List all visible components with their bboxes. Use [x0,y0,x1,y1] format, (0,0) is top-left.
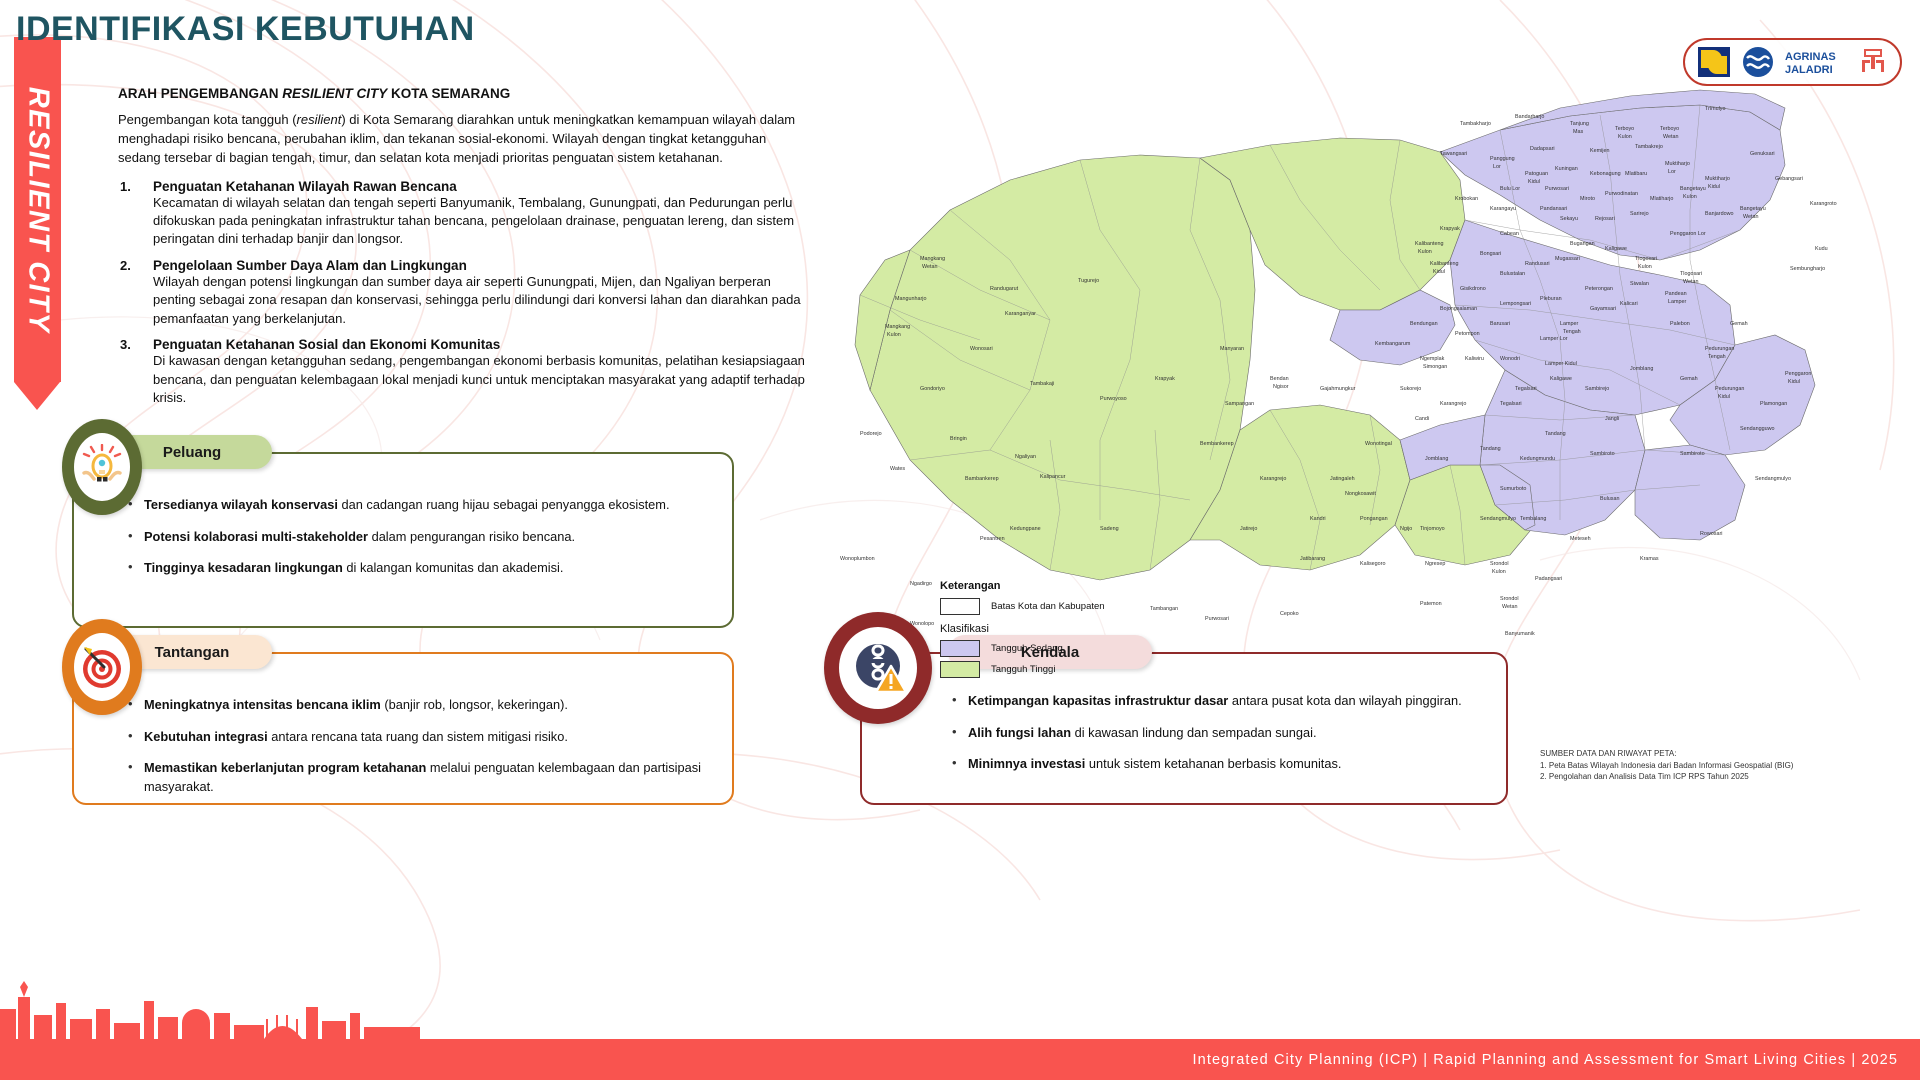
panel-bullet: Meningkatnya intensitas bencana iklim (b… [128,696,716,715]
svg-text:Gayamsari: Gayamsari [1590,306,1616,312]
logo-bar: AGRINAS JALADRI [1683,38,1902,86]
svg-text:Sambirejo: Sambirejo [1585,386,1609,392]
class-label: Tangguh Tinggi [991,664,1055,675]
svg-text:Jomblang: Jomblang [1630,366,1653,372]
svg-text:Ngresep: Ngresep [1425,561,1445,567]
legend-class-list: Tangguh SedangTangguh Tinggi [940,640,1130,678]
svg-text:Lamper Lor: Lamper Lor [1540,336,1568,342]
bullet-rest: dalam pengurangan risiko bencana. [368,529,575,544]
svg-text:Kedungpane: Kedungpane [1010,526,1041,532]
svg-text:Kulon: Kulon [1492,569,1506,575]
svg-text:Purwodinatan: Purwodinatan [1605,191,1638,197]
idea-lightbulb-icon [80,444,124,490]
svg-text:Kidul: Kidul [1788,379,1800,385]
map-source-note: SUMBER DATA DAN RIWAYAT PETA: 1. Peta Ba… [1540,748,1793,783]
svg-text:Tanjung: Tanjung [1570,121,1589,127]
map-svg[interactable]: .hi { fill:#d4eba4; stroke:#6a6a6a; stro… [800,60,1840,660]
svg-text:Patemon: Patemon [1420,601,1442,607]
semarang-resilience-map[interactable]: .hi { fill:#d4eba4; stroke:#6a6a6a; stro… [800,60,1840,660]
svg-text:Sendangmulyo: Sendangmulyo [1480,516,1516,522]
peluang-badge [62,419,142,515]
broken-chain-warning-icon [846,636,910,700]
svg-text:Dadapsari: Dadapsari [1530,146,1555,152]
svg-text:Karangroto: Karangroto [1810,201,1837,207]
agrinas-wave-icon [1742,46,1774,78]
agrinas-jaladri-text-icon: AGRINAS JALADRI [1785,47,1847,77]
svg-text:Kulon: Kulon [887,332,901,338]
svg-text:Sarirejo: Sarirejo [1630,211,1649,217]
svg-text:Sadeng: Sadeng [1100,526,1119,532]
svg-text:Gemah: Gemah [1680,376,1698,382]
bullet-strong: Meningkatnya intensitas bencana iklim [144,697,381,712]
svg-text:Ngisor: Ngisor [1273,384,1289,390]
svg-text:Pedurungan: Pedurungan [1715,386,1744,392]
svg-text:Tembalang: Tembalang [1520,516,1546,522]
svg-text:Petompon: Petompon [1455,331,1480,337]
svg-text:Plamongan: Plamongan [1760,401,1787,407]
panel-bullet: Alih fungsi lahan di kawasan lindung dan… [952,724,1490,743]
boundary-swatch [940,598,980,615]
svg-text:Bandarharjo: Bandarharjo [1515,114,1544,120]
svg-text:Lor: Lor [1668,169,1676,175]
svg-text:Penggaron Lor: Penggaron Lor [1670,231,1706,237]
class-swatch [940,640,980,657]
footer-text: Integrated City Planning (ICP) | Rapid P… [1193,1052,1920,1068]
svg-text:Kulon: Kulon [1683,194,1697,200]
svg-text:Rejosari: Rejosari [1595,216,1615,222]
svg-text:Lamper: Lamper [1560,321,1578,327]
svg-text:Candi: Candi [1415,416,1429,422]
narrative-block: ARAH PENGEMBANGAN RESILIENT CITY KOTA SE… [118,86,808,417]
svg-text:Kembangarum: Kembangarum [1375,341,1411,347]
boundary-label: Batas Kota dan Kabupaten [991,601,1105,612]
svg-text:Nongkosawit: Nongkosawit [1345,491,1376,497]
panel-peluang: Peluang Tersedianya wilayah konservasi d… [72,452,734,628]
resilient-city-ribbon: RESILIENT CITY [14,37,61,382]
svg-text:Sampangan: Sampangan [1225,401,1254,407]
svg-text:Kulon: Kulon [1618,134,1632,140]
svg-text:Bendungan: Bendungan [1410,321,1438,327]
svg-text:Bringin: Bringin [950,436,967,442]
svg-text:Jatibarang: Jatibarang [1300,556,1325,562]
svg-text:Mugassari: Mugassari [1555,256,1580,262]
panel-bullet: Minimnya investasi untuk sistem ketahana… [952,755,1490,774]
svg-text:Kalibanteng: Kalibanteng [1430,261,1458,267]
svg-text:Wetan: Wetan [1502,604,1517,610]
svg-text:Bugangan: Bugangan [1570,241,1595,247]
classification-title: Klasifikasi [940,623,1130,635]
svg-text:Kalicari: Kalicari [1620,301,1638,307]
svg-text:Jangli: Jangli [1605,416,1619,422]
svg-text:Jatingaleh: Jatingaleh [1330,476,1355,482]
svg-text:Simongan: Simongan [1423,364,1447,370]
panel-bullet: Tingginya kesadaran lingkungan di kalang… [128,559,716,578]
svg-text:Banyumanik: Banyumanik [1505,631,1535,637]
svg-text:Wonodri: Wonodri [1500,356,1520,362]
svg-text:Patoguan: Patoguan [1525,171,1548,177]
svg-text:Pesantren: Pesantren [980,536,1005,542]
svg-text:Lempongsari: Lempongsari [1500,301,1531,307]
svg-text:Manyaran: Manyaran [1220,346,1244,352]
svg-text:Kramas: Kramas [1640,556,1659,562]
svg-text:Ngemplak: Ngemplak [1420,356,1445,362]
svg-text:Gisikdrono: Gisikdrono [1460,286,1486,292]
svg-text:Tandang: Tandang [1545,431,1566,437]
svg-text:Karanganyar: Karanganyar [1005,311,1036,317]
bullet-strong: Ketimpangan kapasitas infrastruktur dasa… [968,693,1228,708]
svg-text:Bambankerep: Bambankerep [965,476,999,482]
ribbon-arrow-icon [14,382,60,410]
svg-text:Tegalsari: Tegalsari [1500,401,1522,407]
svg-text:Wonotingal: Wonotingal [1365,441,1392,447]
agrinas-jaladri-logo [1742,46,1774,78]
page-title: IDENTIFIKASI KEBUTUHAN [16,10,475,49]
icp-mark-logo [1858,47,1888,77]
legend-row-class: Tangguh Tinggi [940,661,1130,678]
svg-text:Purwosari: Purwosari [1205,616,1229,622]
bullet-rest: (banjir rob, longsor, kekeringan). [381,697,568,712]
svg-text:Kedungmundu: Kedungmundu [1520,456,1555,462]
svg-text:Kuningan: Kuningan [1555,166,1578,172]
svg-text:Wates: Wates [890,466,905,472]
narrative-point: 2.Pengelolaan Sumber Daya Alam dan Lingk… [118,258,808,328]
svg-text:Bembankerep: Bembankerep [1200,441,1234,447]
svg-text:Kalipancur: Kalipancur [1040,474,1066,480]
svg-text:Kidul: Kidul [1708,184,1720,190]
narrative-lead: Pengembangan kota tangguh (resilient) di… [118,111,808,168]
point-title: Penguatan Ketahanan Wilayah Rawan Bencan… [153,179,808,194]
svg-text:Wonosari: Wonosari [970,346,993,352]
svg-text:Mlatiharjo: Mlatiharjo [1650,196,1673,202]
svg-text:Sembungharjo: Sembungharjo [1790,266,1825,272]
kemendagri-logo-icon [1697,46,1731,78]
svg-text:AGRINAS: AGRINAS [1785,51,1836,63]
point-body: Wilayah dengan potensi lingkungan dan su… [153,273,808,328]
city-skyline-decoration [0,979,420,1039]
svg-text:Pandansari: Pandansari [1540,206,1567,212]
svg-text:Bangetayu: Bangetayu [1740,206,1766,212]
svg-text:Gebangsari: Gebangsari [1775,176,1803,182]
svg-text:Kebonagung: Kebonagung [1590,171,1621,177]
point-number: 3. [120,337,131,352]
svg-text:Randusari: Randusari [1525,261,1550,267]
tantangan-bullets: Meningkatnya intensitas bencana iklim (b… [128,696,716,809]
svg-text:Tinjomoyo: Tinjomoyo [1420,526,1445,532]
svg-text:Rowosari: Rowosari [1700,531,1722,537]
svg-text:Panggung: Panggung [1490,156,1515,162]
bullet-strong: Potensi kolaborasi multi-stakeholder [144,529,368,544]
svg-text:Mangkang: Mangkang [920,256,945,262]
svg-text:Tegalsari: Tegalsari [1515,386,1537,392]
bullet-rest: untuk sistem ketahanan berbasis komunita… [1085,756,1341,771]
svg-text:Sekayu: Sekayu [1560,216,1578,222]
point-title: Penguatan Ketahanan Sosial dan Ekonomi K… [153,337,808,352]
svg-text:Tambangan: Tambangan [1150,606,1178,612]
svg-text:Peterongan: Peterongan [1585,286,1613,292]
svg-text:JALADRI: JALADRI [1785,64,1833,76]
point-title: Pengelolaan Sumber Daya Alam dan Lingkun… [153,258,808,273]
svg-text:Wonoplumbon: Wonoplumbon [840,556,875,562]
peluang-bullets: Tersedianya wilayah konservasi dan cadan… [128,496,716,591]
svg-text:Tambakrejo: Tambakrejo [1635,144,1663,150]
svg-text:Srondol: Srondol [1500,596,1519,602]
svg-text:Cabean: Cabean [1500,231,1519,237]
svg-text:Kaliwiru: Kaliwiru [1465,356,1484,362]
svg-text:Mas: Mas [1573,129,1583,135]
point-body: Di kawasan dengan ketangguhan sedang, pe… [153,352,808,407]
svg-text:Srondol: Srondol [1490,561,1509,567]
class-swatch [940,661,980,678]
svg-text:Padangsari: Padangsari [1535,576,1562,582]
bullet-strong: Minimnya investasi [968,756,1085,771]
svg-text:Genuksari: Genuksari [1750,151,1775,157]
target-dart-icon [78,643,126,691]
narrative-point: 1.Penguatan Ketahanan Wilayah Rawan Benc… [118,179,808,249]
svg-text:Sendangguwo: Sendangguwo [1740,426,1774,432]
bullet-strong: Alih fungsi lahan [968,725,1071,740]
svg-text:Ngijo: Ngijo [1400,526,1412,532]
bullet-rest: dan cadangan ruang hijau sebagai penyang… [338,497,670,512]
panel-tantangan: Tantangan Meningkatnya intensitas bencan… [72,652,734,805]
svg-text:Ngadirgo: Ngadirgo [910,581,932,587]
point-number: 1. [120,179,131,194]
svg-text:Mlatibaru: Mlatibaru [1625,171,1647,177]
svg-text:Ngaliyan: Ngaliyan [1015,454,1036,460]
svg-text:Pleburan: Pleburan [1540,296,1562,302]
svg-text:Muktiharjo: Muktiharjo [1705,176,1730,182]
svg-text:Terboyo: Terboyo [1615,126,1634,132]
point-body: Kecamatan di wilayah selatan dan tengah … [153,194,808,249]
class-label: Tangguh Sedang [991,643,1063,654]
svg-text:Tambakharjo: Tambakharjo [1460,121,1491,127]
svg-text:Lor: Lor [1493,164,1501,170]
panel-bullet: Potensi kolaborasi multi-stakeholder dal… [128,528,716,547]
svg-text:Miroto: Miroto [1580,196,1595,202]
narrative-point: 3.Penguatan Ketahanan Sosial dan Ekonomi… [118,337,808,407]
svg-text:Purwosari: Purwosari [1545,186,1569,192]
svg-text:Kidul: Kidul [1528,179,1540,185]
svg-text:Bojongsalaman: Bojongsalaman [1440,306,1477,312]
svg-text:Tandang: Tandang [1480,446,1501,452]
svg-text:Tlogosari: Tlogosari [1635,256,1657,262]
svg-text:Kemijen: Kemijen [1590,148,1609,154]
svg-text:Wetan: Wetan [1683,279,1698,285]
svg-text:Tengah: Tengah [1563,329,1581,335]
svg-text:Jomblang: Jomblang [1425,456,1448,462]
svg-text:Sambiroto: Sambiroto [1680,451,1705,457]
svg-text:Pongangan: Pongangan [1360,516,1388,522]
svg-text:Gondoriyo: Gondoriyo [920,386,945,392]
bullet-rest: antara pusat kota dan wilayah pinggiran. [1228,693,1461,708]
legend-row-class: Tangguh Sedang [940,640,1130,657]
svg-text:Sukorejo: Sukorejo [1400,386,1421,392]
footer-bar: Integrated City Planning (ICP) | Rapid P… [0,1039,1920,1080]
svg-text:Jatirejo: Jatirejo [1240,526,1257,532]
icp-mark-icon [1858,47,1888,77]
svg-text:Meteseh: Meteseh [1570,536,1591,542]
svg-text:Penggaron: Penggaron [1785,371,1811,377]
svg-text:Banjardowo: Banjardowo [1705,211,1733,217]
svg-text:Tawangsari: Tawangsari [1440,151,1467,157]
bullet-rest: di kawasan lindung dan sempadan sungai. [1071,725,1316,740]
svg-text:Kalisegoro: Kalisegoro [1360,561,1385,567]
svg-text:Bulu Lor: Bulu Lor [1500,186,1520,192]
svg-text:Bangetayu: Bangetayu [1680,186,1706,192]
svg-text:Tengah: Tengah [1708,354,1726,360]
kendala-bullets: Ketimpangan kapasitas infrastruktur dasa… [952,692,1490,787]
bullet-strong: Kebutuhan integrasi [144,729,268,744]
svg-text:Bendan: Bendan [1270,376,1289,382]
point-number: 2. [120,258,131,273]
bullet-strong: Tersedianya wilayah konservasi [144,497,338,512]
svg-text:Kudu: Kudu [1815,246,1828,252]
svg-text:Barusari: Barusari [1490,321,1510,327]
svg-text:Sumurboto: Sumurboto [1500,486,1526,492]
svg-text:Pandean: Pandean [1665,291,1687,297]
svg-text:Sambiroto: Sambiroto [1590,451,1615,457]
legend-row-boundary: Batas Kota dan Kabupaten [940,598,1130,615]
svg-text:Gajahmungkur: Gajahmungkur [1320,386,1356,392]
svg-text:Pedurungan: Pedurungan [1705,346,1734,352]
bullet-rest: antara rencana tata ruang dan sistem mit… [268,729,568,744]
svg-text:Mangunharjo: Mangunharjo [895,296,926,302]
svg-text:Cepoko: Cepoko [1280,611,1299,617]
svg-text:Krapyak: Krapyak [1155,376,1175,382]
svg-text:Siwalan: Siwalan [1630,281,1649,287]
svg-text:Palebon: Palebon [1670,321,1690,327]
svg-text:Tugurejo: Tugurejo [1078,278,1099,284]
legend-title: Keterangan [940,580,1130,592]
svg-text:Mangkang: Mangkang [885,324,910,330]
svg-text:Tambakaji: Tambakaji [1030,381,1054,387]
panel-bullet: Ketimpangan kapasitas infrastruktur dasa… [952,692,1490,711]
svg-text:Karangrejo: Karangrejo [1260,476,1286,482]
svg-text:Kulon: Kulon [1638,264,1652,270]
svg-text:Kaligawe: Kaligawe [1605,246,1627,252]
panel-bullet: Kebutuhan integrasi antara rencana tata … [128,728,716,747]
kemendagri-logo [1697,46,1731,78]
svg-text:Wetan: Wetan [1743,214,1758,220]
ribbon-label: RESILIENT CITY [21,86,54,333]
bullet-strong: Tingginya kesadaran lingkungan [144,560,343,575]
svg-text:Randugarut: Randugarut [990,286,1019,292]
svg-text:Kaligawe: Kaligawe [1550,376,1572,382]
bullet-strong: Memastikan keberlanjutan program ketahan… [144,760,426,775]
svg-text:Kulon: Kulon [1418,249,1432,255]
svg-text:Bulusan: Bulusan [1600,496,1619,502]
svg-text:Purwoyoso: Purwoyoso [1100,396,1127,402]
bullet-rest: di kalangan komunitas dan akademisi. [343,560,564,575]
svg-text:Wetan: Wetan [1663,134,1678,140]
svg-text:Krobokan: Krobokan [1455,196,1478,202]
svg-text:Tlogosari: Tlogosari [1680,271,1702,277]
agrinas-jaladri-wordmark: AGRINAS JALADRI [1785,47,1847,77]
svg-text:Bulustalan: Bulustalan [1500,271,1525,277]
panel-bullet: Memastikan keberlanjutan program ketahan… [128,759,716,796]
narrative-heading: ARAH PENGEMBANGAN RESILIENT CITY KOTA SE… [118,86,808,101]
svg-text:Kalibanteng: Kalibanteng [1415,241,1443,247]
tantangan-badge [62,619,142,715]
svg-text:Terboyo: Terboyo [1660,126,1679,132]
panel-bullet: Tersedianya wilayah konservasi dan cadan… [128,496,716,515]
svg-text:Muktiharjo: Muktiharjo [1665,161,1690,167]
svg-text:Krapyak: Krapyak [1440,226,1460,232]
svg-text:Podorejo: Podorejo [860,431,882,437]
svg-text:Kidul: Kidul [1433,269,1445,275]
svg-text:Trimulyo: Trimulyo [1705,106,1725,112]
svg-text:Karangayu: Karangayu [1490,206,1516,212]
svg-text:Kandri: Kandri [1310,516,1326,522]
svg-text:Wetan: Wetan [922,264,937,270]
svg-text:Gemah: Gemah [1730,321,1748,327]
svg-text:Lamper Kidul: Lamper Kidul [1545,361,1577,367]
svg-text:Lamper: Lamper [1668,299,1686,305]
narrative-points-list: 1.Penguatan Ketahanan Wilayah Rawan Benc… [118,179,808,408]
svg-text:Karangrejo: Karangrejo [1440,401,1466,407]
svg-text:Sendangmulyo: Sendangmulyo [1755,476,1791,482]
kendala-badge [824,612,932,724]
svg-text:Bongsari: Bongsari [1480,251,1501,257]
map-legend: Keterangan Batas Kota dan Kabupaten Klas… [940,580,1130,682]
svg-text:Kidul: Kidul [1718,394,1730,400]
